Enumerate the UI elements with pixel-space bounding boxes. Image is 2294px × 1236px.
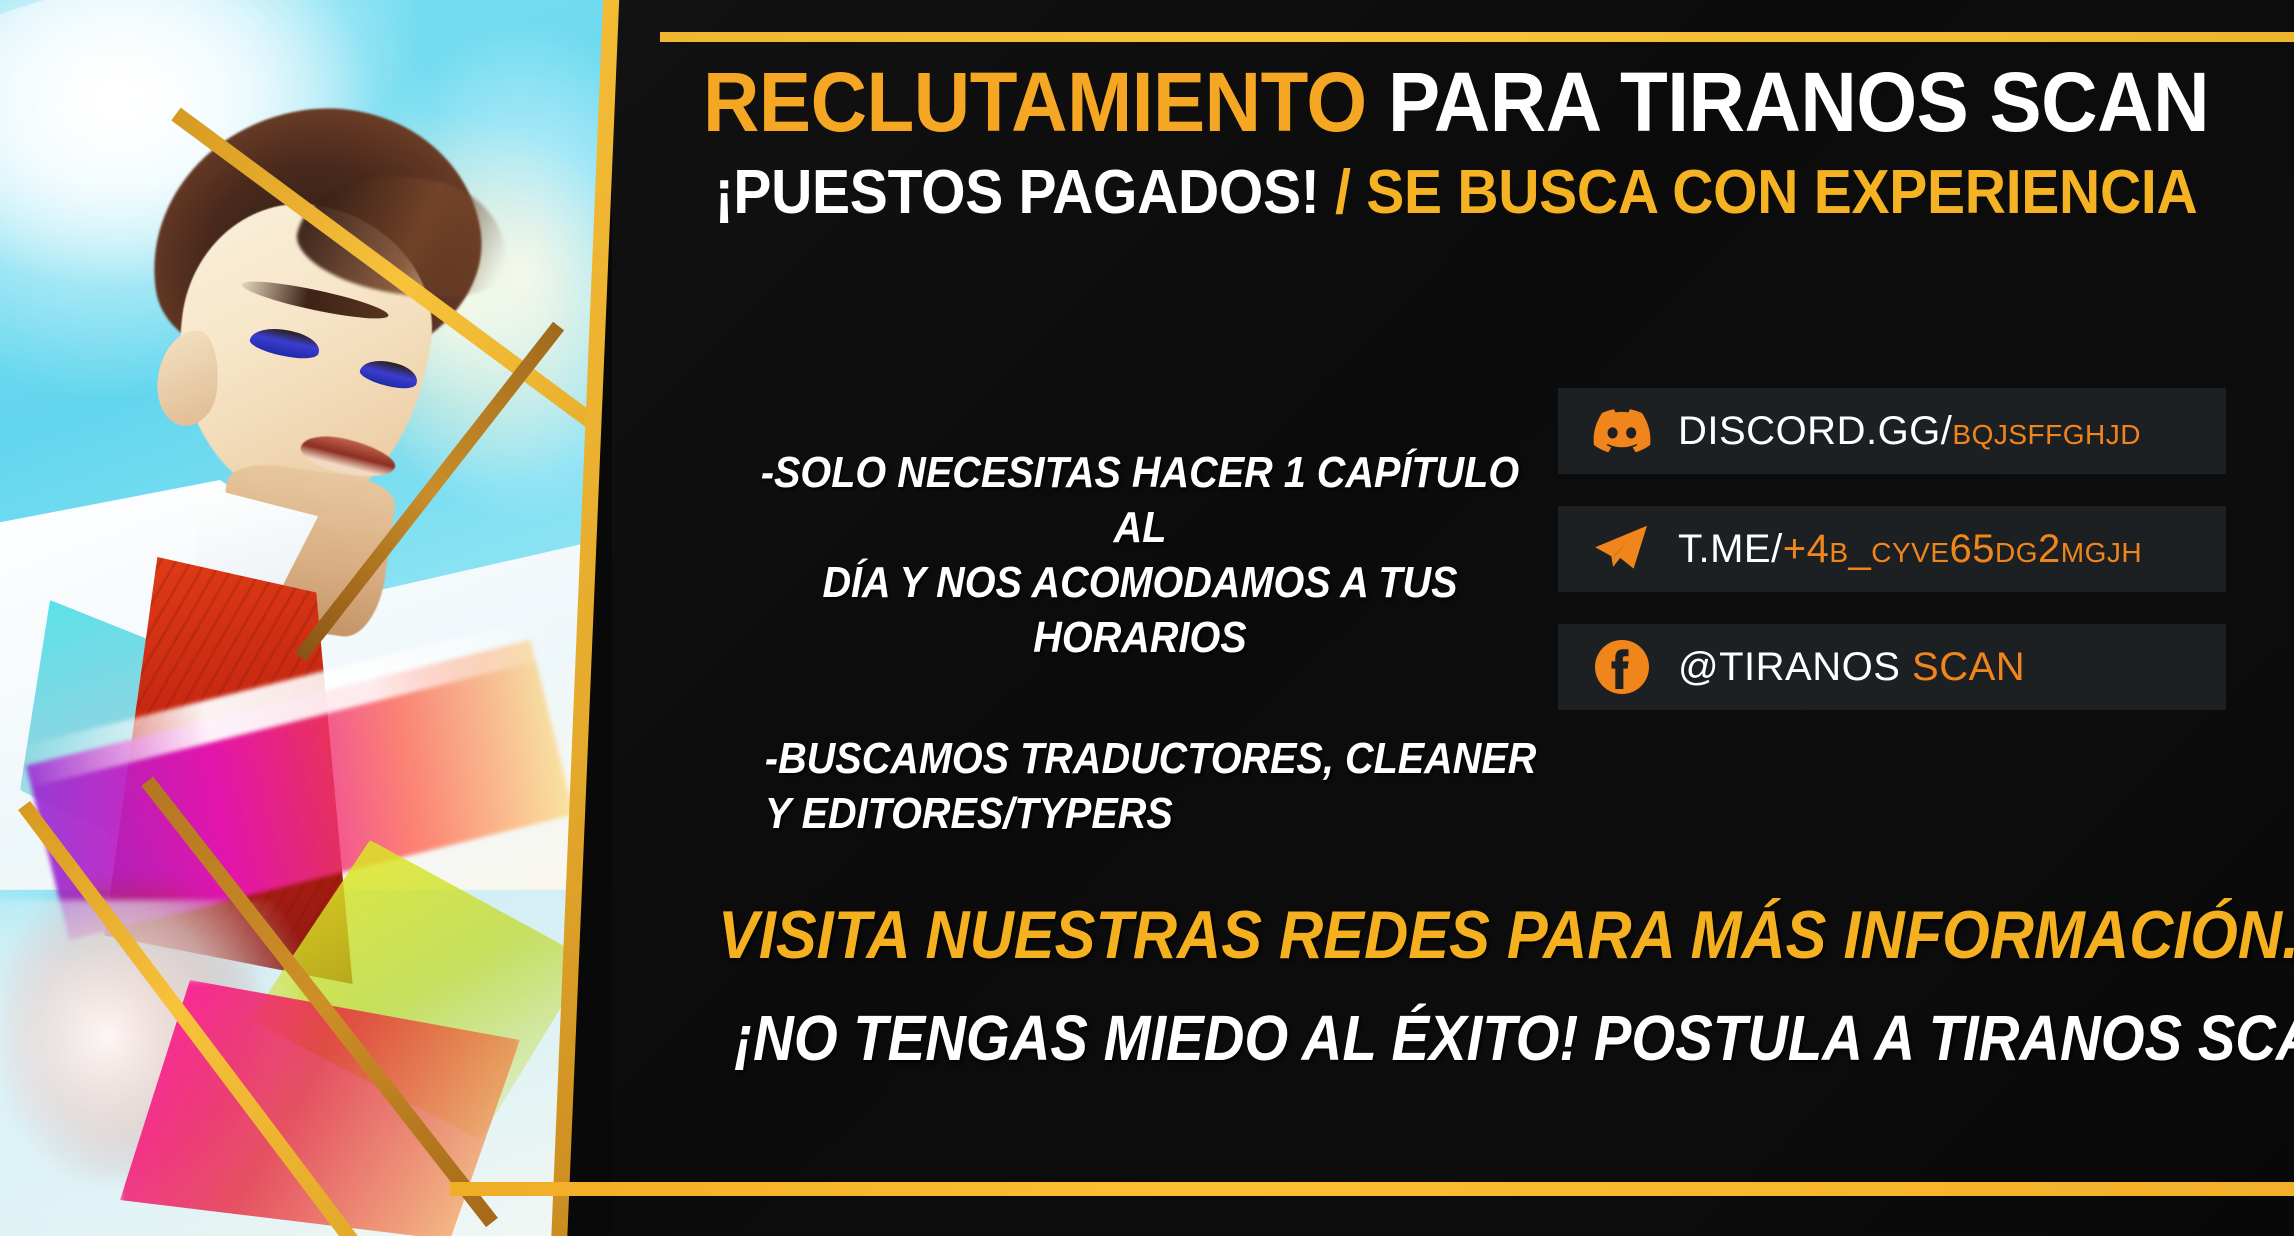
facebook-handle-suffix: SCAN [1912,645,2025,689]
body-paragraph-2-line-1: -BUSCAMOS TRADUCTORES, CLEANER [765,731,1537,786]
telegram-link-text: T.ME/+4B_CyVe65DG2MGJH [1678,527,2142,572]
body-block: -SOLO NECESITAS HACER 1 CAPÍTULO AL DÍA … [700,445,1580,841]
contact-row-telegram[interactable]: T.ME/+4B_CyVe65DG2MGJH [1558,506,2226,592]
headline-primary: RECLUTAMIENTO PARA TIRANOS SCAN [693,60,2218,144]
body-paragraph-2-line-2: Y EDITORES/TYPERS [765,786,1537,841]
gold-bar-top [660,32,2294,42]
body-paragraph-2: -BUSCAMOS TRADUCTORES, CLEANER Y EDITORE… [765,731,1537,841]
discord-invite-code: bQJsFFgHJd [1952,409,2141,453]
telegram-invite-code: +4B_CyVe65DG2MGJH [1783,527,2142,571]
headline-secondary-white: ¡PUESTOS PAGADOS! [715,158,1320,227]
facebook-handle-prefix: @TIRANOS [1678,645,1912,689]
facebook-handle-text: @TIRANOS SCAN [1678,645,2025,690]
cta-line-2: ¡NO TENGAS MIEDO AL ÉXITO! POSTULA A TIR… [734,1005,2177,1072]
gold-bar-bottom [450,1182,2294,1196]
body-paragraph-1-line-1: -SOLO NECESITAS HACER 1 CAPÍTULO AL [744,445,1536,555]
contact-row-discord[interactable]: DISCORD.GG/bQJsFFgHJd [1558,388,2226,474]
cta-line-1: VISITA NUESTRAS REDES PARA MÁS INFORMACI… [718,900,2194,971]
facebook-icon [1592,637,1652,697]
body-paragraph-1-line-2: DÍA Y NOS ACOMODAMOS A TUS HORARIOS [744,555,1536,665]
telegram-icon [1592,519,1652,579]
discord-icon [1592,401,1652,461]
discord-link-prefix: DISCORD.GG/ [1678,409,1952,453]
telegram-link-prefix: T.ME/ [1678,527,1783,571]
discord-link-text: DISCORD.GG/bQJsFFgHJd [1678,409,2141,454]
contact-list: DISCORD.GG/bQJsFFgHJd T.ME/+4B_CyVe65DG2… [1558,388,2226,742]
headline-primary-white: PARA TIRANOS SCAN [1388,55,2209,149]
cta-block: VISITA NUESTRAS REDES PARA MÁS INFORMACI… [636,900,2276,1073]
headline-secondary-gold: / SE BUSCA CON EXPERIENCIA [1335,158,2197,227]
headline-block: RECLUTAMIENTO PARA TIRANOS SCAN ¡PUESTOS… [636,60,2276,224]
headline-primary-gold: RECLUTAMIENTO [703,55,1367,149]
headline-secondary: ¡PUESTOS PAGADOS! / SE BUSCA CON EXPERIE… [702,162,2211,224]
contact-row-facebook[interactable]: @TIRANOS SCAN [1558,624,2226,710]
body-paragraph-1: -SOLO NECESITAS HACER 1 CAPÍTULO AL DÍA … [744,445,1536,665]
character-artwork [0,0,640,1236]
recruitment-poster: RECLUTAMIENTO PARA TIRANOS SCAN ¡PUESTOS… [0,0,2294,1236]
